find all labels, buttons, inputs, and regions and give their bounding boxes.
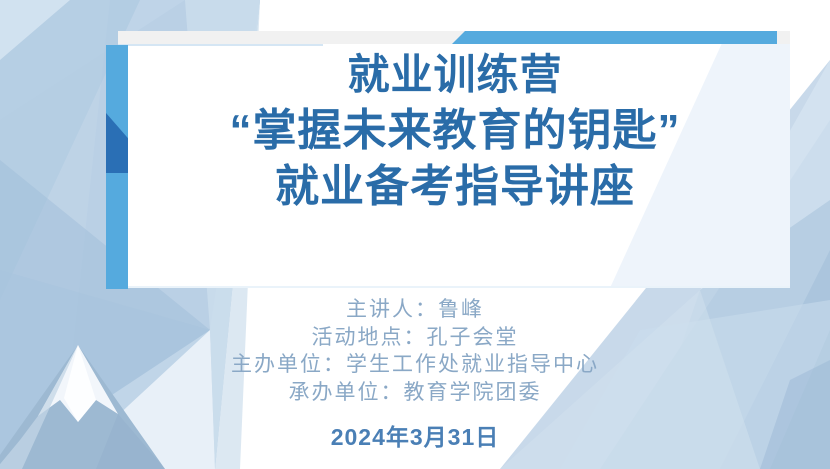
- detail-organizer: 主办单位：学生工作处就业指导中心: [115, 351, 715, 379]
- title-block: 就业训练营 “掌握未来教育的钥匙” 就业备考指导讲座: [150, 52, 760, 210]
- detail-co-organizer: 承办单位：教育学院团委: [115, 379, 715, 407]
- details-block: 主讲人：鲁峰 活动地点：孔子会堂 主办单位：学生工作处就业指导中心 承办单位：教…: [115, 296, 715, 452]
- event-date: 2024年3月31日: [115, 418, 715, 452]
- title-line-2: “掌握未来教育的钥匙”: [150, 107, 760, 155]
- presentation-slide: 就业训练营 “掌握未来教育的钥匙” 就业备考指导讲座 主讲人：鲁峰 活动地点：孔…: [0, 0, 830, 469]
- detail-venue: 活动地点：孔子会堂: [115, 324, 715, 352]
- title-line-1: 就业训练营: [150, 52, 760, 97]
- detail-speaker: 主讲人：鲁峰: [115, 296, 715, 324]
- title-line-3: 就业备考指导讲座: [150, 163, 760, 211]
- card-top-rule: [118, 44, 323, 46]
- card-bottom-rule: [118, 286, 790, 288]
